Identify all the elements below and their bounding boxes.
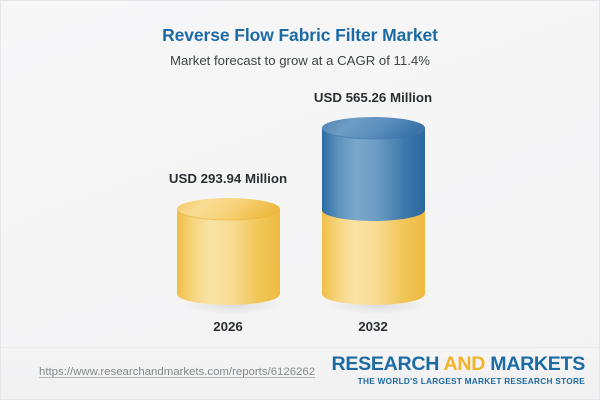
brand-wordmark: RESEARCH AND MARKETS: [332, 354, 585, 375]
brand-markets-text: MARKETS: [485, 353, 585, 375]
brand-and-text: AND: [444, 353, 486, 375]
cylinder-2026: [177, 198, 280, 316]
footer: https://www.researchandmarkets.com/repor…: [1, 347, 599, 399]
chart-plot-area: USD 293.94 Million: [1, 1, 600, 349]
brand-research-text: RESEARCH: [332, 353, 444, 375]
axis-label-2032: 2032: [293, 319, 453, 334]
bar-value-label-2026: USD 293.94 Million: [148, 171, 308, 186]
cylinder-2032: [322, 117, 425, 316]
bar-value-label-2032: USD 565.26 Million: [293, 90, 453, 105]
axis-label-2026: 2026: [148, 319, 308, 334]
brand-tagline: THE WORLD'S LARGEST MARKET RESEARCH STOR…: [332, 376, 585, 386]
report-url-link[interactable]: https://www.researchandmarkets.com/repor…: [39, 366, 315, 378]
infographic-card: Reverse Flow Fabric Filter Market Market…: [0, 0, 600, 400]
brand-logo: RESEARCH AND MARKETS THE WORLD'S LARGEST…: [332, 354, 585, 386]
